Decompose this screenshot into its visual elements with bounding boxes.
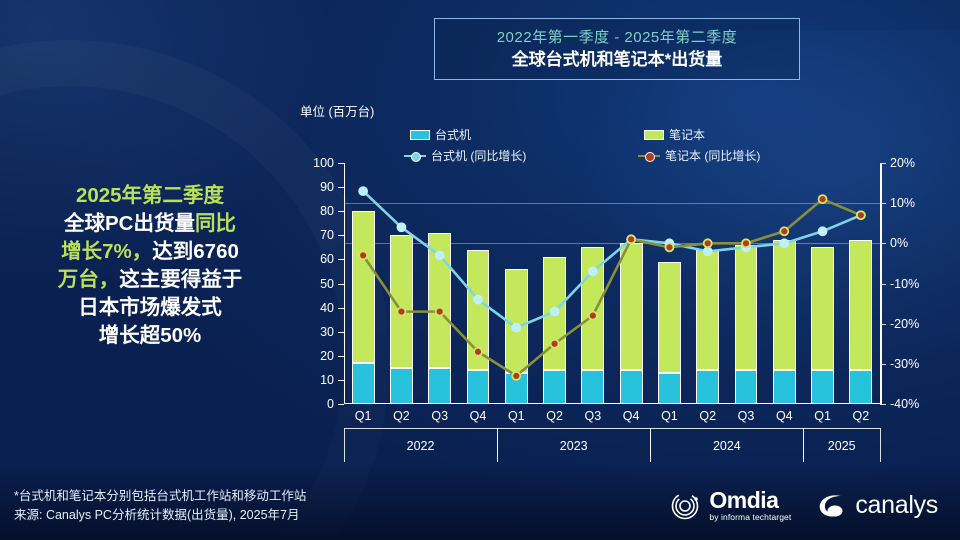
footnote-definition: *台式机和笔记本分别包括台式机工作站和移动工作站 — [14, 487, 306, 506]
growth-data-point[interactable] — [474, 348, 482, 356]
right-axis-tick-label: -40% — [890, 398, 932, 410]
left-axis-tick-label: 20 — [300, 350, 334, 362]
right-axis-tick-label: 20% — [890, 157, 932, 169]
page-title: 全球台式机和笔记本*出货量 — [512, 48, 723, 71]
right-axis-tick — [880, 404, 886, 405]
right-axis-tick-label: -30% — [890, 358, 932, 370]
left-axis-tick-label: 60 — [300, 253, 334, 265]
x-axis-quarter-label: Q3 — [727, 409, 765, 423]
legend-swatch-desktop-icon — [410, 130, 430, 140]
legend-swatch-notebook-icon — [644, 130, 664, 140]
legend-item-notebook-bar[interactable]: 笔记本 — [644, 126, 705, 143]
growth-data-point[interactable] — [704, 247, 712, 255]
callout-line-2b: 同比 — [195, 212, 236, 235]
legend-item-desktop-growth[interactable]: 台式机 (同比增长) — [404, 147, 526, 164]
x-axis-quarter-label: Q4 — [765, 409, 803, 423]
growth-data-point[interactable] — [665, 243, 673, 251]
canalys-wordmark: canalys — [855, 493, 938, 518]
right-axis-tick-label: 10% — [890, 197, 932, 209]
canalys-logo: canalys — [817, 492, 938, 520]
growth-data-point[interactable] — [512, 324, 520, 332]
x-axis-year-label: 2025 — [803, 439, 880, 453]
right-axis-tick-label: 0% — [890, 237, 932, 249]
footnote-source: 来源: Canalys PC分析统计数据(出货量), 2025年7月 — [14, 506, 306, 525]
x-axis-quarter-label: Q1 — [344, 409, 382, 423]
footer-notes: *台式机和笔记本分别包括台式机工作站和移动工作站 来源: Canalys PC分… — [14, 487, 306, 525]
callout-line-3b: 达到6760 — [152, 240, 239, 263]
callout-line-3a: 增长7%， — [61, 240, 152, 263]
legend-label-desktop-bar: 台式机 — [435, 126, 471, 143]
year-group-separator — [344, 428, 345, 462]
x-axis-quarter-label: Q2 — [689, 409, 727, 423]
left-axis-tick-label: 50 — [300, 278, 334, 290]
title-period: 2022年第一季度 - 2025年第二季度 — [497, 28, 738, 48]
left-axis-tick-label: 0 — [300, 398, 334, 410]
growth-data-point[interactable] — [397, 308, 405, 316]
legend-item-notebook-growth[interactable]: 笔记本 (同比增长) — [638, 147, 760, 164]
callout-line-2a: 全球PC出货量 — [64, 212, 195, 235]
growth-data-point[interactable] — [436, 308, 444, 316]
growth-data-point[interactable] — [551, 308, 559, 316]
growth-data-point[interactable] — [704, 239, 712, 247]
x-axis-quarter-label: Q2 — [535, 409, 573, 423]
growth-data-point[interactable] — [436, 251, 444, 259]
left-axis-tick — [338, 404, 344, 405]
growth-data-point[interactable] — [780, 239, 788, 247]
growth-data-point[interactable] — [397, 223, 405, 231]
legend-label-notebook-bar: 笔记本 — [669, 126, 705, 143]
x-axis-quarter-label: Q1 — [803, 409, 841, 423]
growth-lines-layer — [344, 163, 880, 404]
omdia-wordmark: Omdia — [709, 489, 791, 512]
growth-data-point[interactable] — [742, 239, 750, 247]
right-axis-tick — [880, 243, 886, 244]
year-group-separator — [650, 428, 651, 462]
legend-label-notebook-growth: 笔记本 (同比增长) — [665, 147, 760, 164]
growth-data-point[interactable] — [780, 227, 788, 235]
growth-data-point[interactable] — [819, 195, 827, 203]
omdia-mark-icon — [671, 491, 701, 521]
year-group-separator — [803, 428, 804, 462]
x-axis-year-label: 2022 — [344, 439, 497, 453]
x-axis-quarter-label: Q3 — [574, 409, 612, 423]
x-axis-quarter-label: Q2 — [382, 409, 420, 423]
chart-plot-area — [344, 163, 880, 404]
legend-line-desktop-icon — [404, 151, 426, 161]
growth-data-point[interactable] — [627, 235, 635, 243]
x-axis-quarter-label: Q4 — [459, 409, 497, 423]
growth-data-point[interactable] — [512, 372, 520, 380]
right-axis-tick — [880, 203, 886, 204]
callout-line-4a: 万台， — [58, 268, 120, 291]
year-group-line — [803, 428, 880, 429]
callout-line-4b: 这主要得益于 — [119, 268, 242, 291]
x-axis-quarter-label: Q1 — [497, 409, 535, 423]
chart-title-box: 2022年第一季度 - 2025年第二季度 全球台式机和笔记本*出货量 — [434, 18, 800, 80]
x-axis-year-label: 2024 — [650, 439, 803, 453]
x-axis-quarter-label: Q1 — [650, 409, 688, 423]
growth-data-point[interactable] — [819, 227, 827, 235]
right-axis-tick — [880, 284, 886, 285]
year-group-line — [497, 428, 650, 429]
callout-line-1: 2025年第二季度 — [76, 184, 224, 207]
year-group-line — [650, 428, 803, 429]
year-group-line — [344, 428, 497, 429]
left-axis-tick-label: 80 — [300, 205, 334, 217]
x-axis-year-label: 2023 — [497, 439, 650, 453]
callout-text: 2025年第二季度 全球PC出货量同比 增长7%，达到6760 万台，这主要得益… — [14, 182, 286, 350]
right-axis-tick-label: -20% — [890, 318, 932, 330]
left-axis-tick-label: 10 — [300, 374, 334, 386]
left-axis-tick-label: 70 — [300, 229, 334, 241]
legend-label-desktop-growth: 台式机 (同比增长) — [431, 147, 526, 164]
left-axis-tick-label: 30 — [300, 326, 334, 338]
callout-line-5: 日本市场爆发式 — [78, 296, 222, 319]
legend-item-desktop-bar[interactable]: 台式机 — [410, 126, 471, 143]
canalys-mark-icon — [817, 492, 847, 520]
x-axis-quarter-label: Q2 — [842, 409, 880, 423]
growth-data-point[interactable] — [551, 340, 559, 348]
x-axis-quarter-label: Q3 — [421, 409, 459, 423]
left-axis-title: 单位 (百万台) — [300, 101, 374, 120]
growth-data-point[interactable] — [359, 251, 367, 259]
year-group-separator — [497, 428, 498, 462]
right-axis-tick — [880, 364, 886, 365]
omdia-tagline: by informa techtarget — [709, 512, 791, 522]
left-axis-tick-label: 40 — [300, 302, 334, 314]
growth-data-point[interactable] — [589, 267, 597, 275]
growth-line — [363, 199, 861, 376]
left-axis-tick-label: 100 — [300, 157, 334, 169]
growth-data-point[interactable] — [474, 296, 482, 304]
year-group-separator — [880, 428, 881, 462]
right-axis-tick — [880, 163, 886, 164]
callout-line-6: 增长超50% — [99, 324, 202, 347]
legend-line-notebook-icon — [638, 151, 660, 161]
slide-canvas: 2022年第一季度 - 2025年第二季度 全球台式机和笔记本*出货量 单位 (… — [0, 0, 960, 540]
logo-group: Omdia by informa techtarget canalys — [671, 489, 938, 522]
x-axis-labels: Q1Q2Q3Q4Q1Q2Q3Q4Q1Q2Q3Q4Q1Q2202220232024… — [344, 406, 880, 464]
growth-data-point[interactable] — [359, 187, 367, 195]
omdia-logo: Omdia by informa techtarget — [671, 489, 791, 522]
growth-data-point[interactable] — [857, 211, 865, 219]
right-axis-tick — [880, 324, 886, 325]
growth-data-point[interactable] — [589, 312, 597, 320]
chart-legend: 台式机 笔记本 台式机 (同比增长) 笔记本 (同比增长) — [404, 126, 824, 168]
left-axis-tick-label: 90 — [300, 181, 334, 193]
right-axis-tick-label: -10% — [890, 278, 932, 290]
x-axis-quarter-label: Q4 — [612, 409, 650, 423]
